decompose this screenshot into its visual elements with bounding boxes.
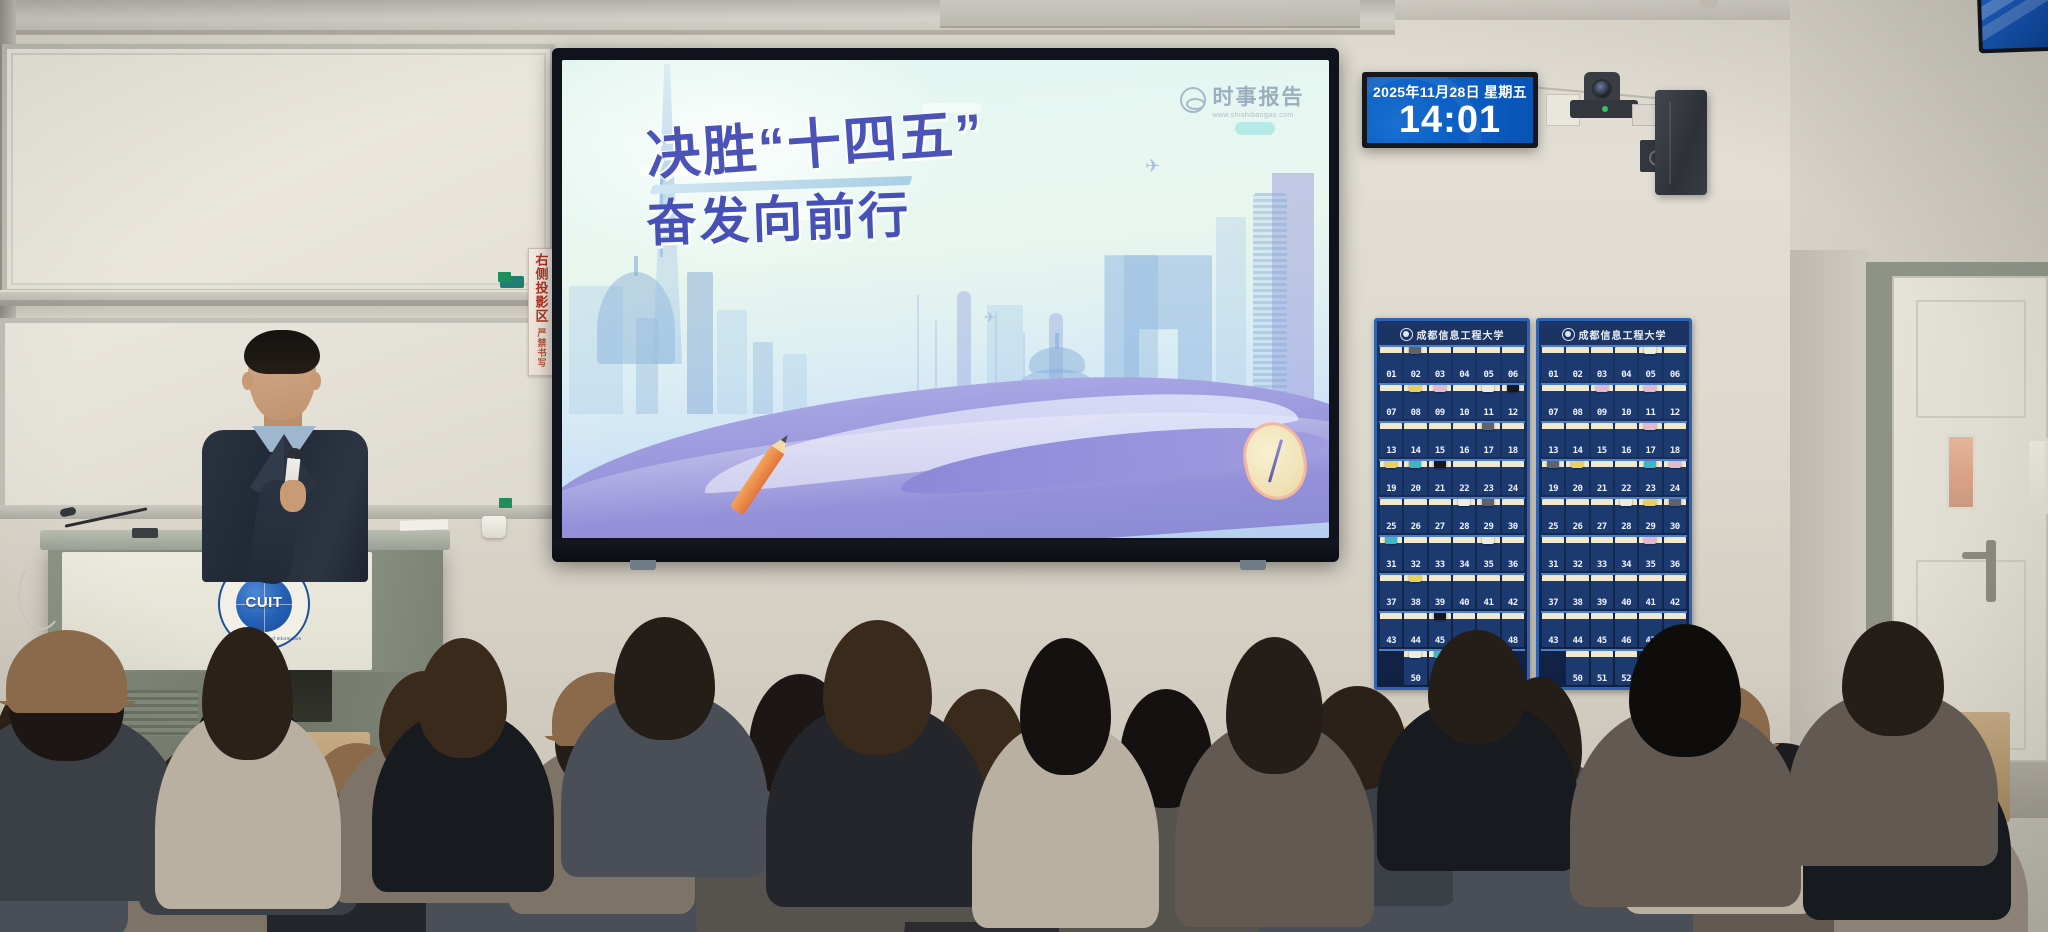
phone-board-title: 成都信息工程大学 bbox=[1417, 327, 1505, 342]
phone-slot-04[interactable]: 04 bbox=[1615, 347, 1637, 381]
camera-status-led bbox=[1602, 106, 1608, 112]
phone-slot-16[interactable]: 16 bbox=[1453, 423, 1475, 457]
phone-slot-22[interactable]: 22 bbox=[1615, 461, 1637, 495]
projection-area-warning-sign: 右侧投影区 严禁书写 bbox=[528, 248, 554, 376]
presenter-hand bbox=[280, 480, 306, 512]
phone-slot-11[interactable]: 11 bbox=[1477, 385, 1499, 419]
phone-slot-number: 29 bbox=[1484, 522, 1494, 532]
phone-slot-number: 26 bbox=[1573, 522, 1583, 532]
phone-slot-24[interactable]: 24 bbox=[1664, 461, 1686, 495]
phone-slot-number: 08 bbox=[1573, 408, 1583, 418]
phone-slot-number: 17 bbox=[1646, 446, 1656, 456]
phone-slot-number: 06 bbox=[1670, 370, 1680, 380]
phone-slot-12[interactable]: 12 bbox=[1664, 385, 1686, 419]
phone-slot-29[interactable]: 29 bbox=[1639, 499, 1661, 533]
phone-slot-number: 16 bbox=[1621, 446, 1631, 456]
stored-phone bbox=[1409, 347, 1421, 354]
phone-slot-number: 21 bbox=[1597, 484, 1607, 494]
phone-board-title: 成都信息工程大学 bbox=[1579, 327, 1667, 342]
building-left-4 bbox=[717, 310, 747, 414]
phone-slot-number: 12 bbox=[1670, 408, 1680, 418]
stored-phone bbox=[1620, 499, 1632, 506]
phone-slot-05[interactable]: 05 bbox=[1477, 347, 1499, 381]
phone-slot-number: 24 bbox=[1670, 484, 1680, 494]
phone-slot-number: 27 bbox=[1435, 522, 1445, 532]
whiteboard-upper bbox=[2, 44, 555, 294]
phone-slot-number: 14 bbox=[1573, 446, 1583, 456]
phone-slot-27[interactable]: 27 bbox=[1429, 499, 1451, 533]
stored-phone bbox=[1434, 385, 1446, 392]
compass-clock-icon bbox=[1244, 422, 1306, 500]
stored-phone bbox=[1385, 461, 1397, 468]
phone-slot-number: 26 bbox=[1411, 522, 1421, 532]
stored-phone bbox=[1644, 423, 1656, 430]
ceiling-panel-right bbox=[1395, 0, 1815, 20]
cup-on-ledge bbox=[482, 516, 506, 538]
presentation-display[interactable]: ✈ ✈ bbox=[552, 48, 1339, 560]
phone-slot-number: 15 bbox=[1435, 446, 1445, 456]
phone-slot-number: 19 bbox=[1386, 484, 1396, 494]
audience-member-head bbox=[1842, 621, 1944, 737]
phone-slot-number: 03 bbox=[1435, 370, 1445, 380]
door-vision-panel bbox=[1946, 434, 1976, 510]
phone-slot-30[interactable]: 30 bbox=[1502, 499, 1524, 533]
phone-slot-03[interactable]: 03 bbox=[1429, 347, 1451, 381]
camera-lens-icon bbox=[1592, 79, 1612, 99]
phone-slot-number: 28 bbox=[1621, 522, 1631, 532]
phone-slot-number: 02 bbox=[1573, 370, 1583, 380]
phone-slot-07[interactable]: 07 bbox=[1380, 385, 1402, 419]
phone-slot-15[interactable]: 15 bbox=[1591, 423, 1613, 457]
audience-member-head bbox=[823, 620, 932, 755]
phone-slot-number: 22 bbox=[1621, 484, 1631, 494]
phone-slot-number: 05 bbox=[1646, 370, 1656, 380]
phone-slot-11[interactable]: 11 bbox=[1639, 385, 1661, 419]
phone-slot-number: 23 bbox=[1646, 484, 1656, 494]
phone-slot-10[interactable]: 10 bbox=[1453, 385, 1475, 419]
phone-slot-number: 22 bbox=[1459, 484, 1469, 494]
phone-slot-01[interactable]: 01 bbox=[1380, 347, 1402, 381]
phone-slot-20[interactable]: 20 bbox=[1404, 461, 1426, 495]
audience-member-head bbox=[1020, 638, 1111, 775]
stored-phone bbox=[1547, 461, 1559, 468]
phone-slot-18[interactable]: 18 bbox=[1664, 423, 1686, 457]
phone-slot-number: 18 bbox=[1508, 446, 1518, 456]
paper-sheet bbox=[400, 519, 448, 531]
phone-slot-number: 10 bbox=[1459, 408, 1469, 418]
green-wall-tag-lower bbox=[499, 498, 512, 508]
phone-board-seal-icon bbox=[1562, 328, 1575, 341]
phone-slot-number: 11 bbox=[1646, 408, 1656, 418]
stored-phone bbox=[1458, 499, 1470, 506]
phone-board-header: 成都信息工程大学 bbox=[1379, 323, 1525, 345]
phone-slot-number: 01 bbox=[1386, 370, 1396, 380]
phone-slot-26[interactable]: 26 bbox=[1404, 499, 1426, 533]
building-left-5 bbox=[753, 342, 773, 414]
phone-slot-number: 21 bbox=[1435, 484, 1445, 494]
phone-slot-number: 25 bbox=[1548, 522, 1558, 532]
phone-slot-number: 23 bbox=[1484, 484, 1494, 494]
phone-slot-01[interactable]: 01 bbox=[1542, 347, 1564, 381]
phone-slot-21[interactable]: 21 bbox=[1591, 461, 1613, 495]
stored-phone bbox=[1507, 385, 1519, 392]
phone-slot-number: 02 bbox=[1411, 370, 1421, 380]
phone-slot-03[interactable]: 03 bbox=[1591, 347, 1613, 381]
phone-slot-27[interactable]: 27 bbox=[1591, 499, 1613, 533]
phone-slot-number: 15 bbox=[1597, 446, 1607, 456]
phone-slot-09[interactable]: 09 bbox=[1591, 385, 1613, 419]
phone-slot-20[interactable]: 20 bbox=[1566, 461, 1588, 495]
phone-slot-26[interactable]: 26 bbox=[1566, 499, 1588, 533]
phone-slot-02[interactable]: 02 bbox=[1566, 347, 1588, 381]
phone-slot-number: 18 bbox=[1670, 446, 1680, 456]
ptz-camera bbox=[1570, 72, 1638, 130]
phone-slot-25[interactable]: 25 bbox=[1380, 499, 1402, 533]
slide-headline-block: 决胜“十四五” 奋发向前行 bbox=[646, 113, 1122, 241]
phone-slot-10[interactable]: 10 bbox=[1615, 385, 1637, 419]
whiteboard-surface bbox=[11, 53, 546, 285]
phone-slot-09[interactable]: 09 bbox=[1429, 385, 1451, 419]
wall-digital-clock: 2025年11月28日 星期五 14:01 bbox=[1362, 72, 1538, 148]
phone-slot-number: 20 bbox=[1411, 484, 1421, 494]
ceiling-panel-left bbox=[940, 0, 1360, 28]
corner-monitor[interactable] bbox=[1977, 0, 2048, 53]
phone-slot-number: 20 bbox=[1573, 484, 1583, 494]
door-side-panel bbox=[2026, 438, 2048, 514]
gooseneck-capsule bbox=[59, 506, 76, 517]
audience-member-head bbox=[1226, 637, 1323, 774]
publisher-logo-mark-icon bbox=[1180, 87, 1206, 113]
building-left-3 bbox=[687, 272, 713, 414]
lecture-hall-photo: 右侧投影区 严禁书写 ✈ ✈ bbox=[0, 0, 2048, 932]
phone-slot-16[interactable]: 16 bbox=[1615, 423, 1637, 457]
phone-slot-number: 28 bbox=[1459, 522, 1469, 532]
audience-member-head bbox=[418, 638, 507, 758]
wall-speaker bbox=[1655, 90, 1707, 195]
phone-slot-12[interactable]: 12 bbox=[1502, 385, 1524, 419]
phone-slot-08[interactable]: 08 bbox=[1404, 385, 1426, 419]
audience-member-head bbox=[202, 627, 293, 760]
phone-slot-number: 09 bbox=[1597, 408, 1607, 418]
phone-slot-29[interactable]: 29 bbox=[1477, 499, 1499, 533]
slide-publisher-logo: 时事报告 www.shishibaogao.com bbox=[1180, 81, 1304, 119]
phone-slot-04[interactable]: 04 bbox=[1453, 347, 1475, 381]
stored-phone bbox=[1482, 385, 1494, 392]
phone-slot-14[interactable]: 14 bbox=[1404, 423, 1426, 457]
warning-sign-main: 右侧投影区 bbox=[535, 253, 548, 323]
phone-board-row: 192021222324 bbox=[1541, 459, 1687, 497]
clock-time: 14:01 bbox=[1399, 101, 1501, 139]
audience-member-head bbox=[1428, 630, 1526, 744]
bridge-cable-1 bbox=[917, 295, 919, 395]
phone-slot-number: 01 bbox=[1548, 370, 1558, 380]
publisher-name: 时事报告 bbox=[1212, 81, 1304, 111]
phone-slot-18[interactable]: 18 bbox=[1502, 423, 1524, 457]
phone-slot-06[interactable]: 06 bbox=[1664, 347, 1686, 381]
temple-tier-3 bbox=[1029, 347, 1085, 373]
phone-slot-22[interactable]: 22 bbox=[1453, 461, 1475, 495]
phone-slot-number: 25 bbox=[1386, 522, 1396, 532]
publisher-url: www.shishibaogao.com bbox=[1212, 112, 1304, 119]
stored-phone bbox=[1482, 499, 1494, 506]
slide-canvas: ✈ ✈ bbox=[562, 60, 1329, 538]
phone-slot-number: 09 bbox=[1435, 408, 1445, 418]
stored-phone bbox=[1409, 385, 1421, 392]
building-left-6 bbox=[783, 354, 807, 414]
phone-slot-13[interactable]: 13 bbox=[1380, 423, 1402, 457]
warning-sign-sub: 严禁书写 bbox=[537, 328, 546, 368]
phone-slot-number: 04 bbox=[1459, 370, 1469, 380]
phone-slot-number: 30 bbox=[1508, 522, 1518, 532]
door-panel-top bbox=[1916, 300, 2026, 418]
phone-board-row: 252627282930 bbox=[1541, 497, 1687, 535]
audience-member-head bbox=[614, 617, 715, 739]
phone-slot-17[interactable]: 17 bbox=[1477, 423, 1499, 457]
phone-slot-number: 04 bbox=[1621, 370, 1631, 380]
compass-dial bbox=[1237, 416, 1314, 505]
ceiling-seam bbox=[0, 30, 1395, 35]
phone-board-row: 131415161718 bbox=[1379, 421, 1525, 459]
phone-board-row: 070809101112 bbox=[1379, 383, 1525, 421]
phone-board-row: 252627282930 bbox=[1379, 497, 1525, 535]
gooseneck-arm bbox=[65, 507, 148, 527]
presenter-ear-left bbox=[242, 372, 253, 390]
phone-slot-28[interactable]: 28 bbox=[1453, 499, 1475, 533]
stored-phone bbox=[1409, 461, 1421, 468]
stored-phone bbox=[1669, 499, 1681, 506]
green-wall-tag-upper bbox=[498, 272, 511, 282]
phone-slot-number: 30 bbox=[1670, 522, 1680, 532]
cloud-3 bbox=[1235, 122, 1275, 135]
phone-slot-number: 07 bbox=[1386, 408, 1396, 418]
phone-slot-number: 03 bbox=[1597, 370, 1607, 380]
phone-slot-23[interactable]: 23 bbox=[1477, 461, 1499, 495]
phone-board-header: 成都信息工程大学 bbox=[1541, 323, 1687, 345]
phone-board-row: 070809101112 bbox=[1541, 383, 1687, 421]
phone-slot-number: 08 bbox=[1411, 408, 1421, 418]
slide-headline-line-2: 奋发向前行 bbox=[646, 182, 1123, 249]
phone-slot-14[interactable]: 14 bbox=[1566, 423, 1588, 457]
phone-slot-19[interactable]: 19 bbox=[1380, 461, 1402, 495]
presenter-hair bbox=[244, 330, 320, 374]
stored-phone bbox=[1596, 385, 1608, 392]
stored-phone bbox=[1644, 385, 1656, 392]
phone-slot-25[interactable]: 25 bbox=[1542, 499, 1564, 533]
phone-slot-08[interactable]: 08 bbox=[1566, 385, 1588, 419]
phone-slot-number: 10 bbox=[1621, 408, 1631, 418]
phone-slot-17[interactable]: 17 bbox=[1639, 423, 1661, 457]
stored-phone bbox=[1644, 347, 1656, 354]
stored-phone bbox=[1644, 499, 1656, 506]
phone-slot-number: 27 bbox=[1597, 522, 1607, 532]
phone-board-row: 010203040506 bbox=[1541, 345, 1687, 383]
stored-phone bbox=[1482, 423, 1494, 430]
microphone-base bbox=[132, 528, 158, 538]
corner-monitor-screen bbox=[1981, 0, 2048, 49]
phone-board-row: 192021222324 bbox=[1379, 459, 1525, 497]
phone-slot-number: 07 bbox=[1548, 408, 1558, 418]
phone-slot-05[interactable]: 05 bbox=[1639, 347, 1661, 381]
phone-slot-number: 29 bbox=[1646, 522, 1656, 532]
phone-slot-06[interactable]: 06 bbox=[1502, 347, 1524, 381]
seal-abbreviation: CUIT bbox=[218, 594, 310, 611]
phone-slot-number: 14 bbox=[1411, 446, 1421, 456]
phone-board-row: 010203040506 bbox=[1379, 345, 1525, 383]
phone-slot-number: 17 bbox=[1484, 446, 1494, 456]
phone-slot-24[interactable]: 24 bbox=[1502, 461, 1524, 495]
stored-phone bbox=[1669, 461, 1681, 468]
phone-slot-number: 24 bbox=[1508, 484, 1518, 494]
phone-board-seal-icon bbox=[1400, 328, 1413, 341]
stored-phone bbox=[1644, 461, 1656, 468]
phone-slot-23[interactable]: 23 bbox=[1639, 461, 1661, 495]
publisher-logo-text: 时事报告 www.shishibaogao.com bbox=[1212, 81, 1304, 119]
phone-slot-number: 16 bbox=[1459, 446, 1469, 456]
phone-slot-19[interactable]: 19 bbox=[1542, 461, 1564, 495]
phone-slot-21[interactable]: 21 bbox=[1429, 461, 1451, 495]
presenter-ear-right bbox=[310, 372, 321, 390]
compass-needle bbox=[1267, 439, 1282, 482]
phone-slot-number: 13 bbox=[1548, 446, 1558, 456]
phone-board-row: 131415161718 bbox=[1541, 421, 1687, 459]
phone-slot-02[interactable]: 02 bbox=[1404, 347, 1426, 381]
phone-slot-07[interactable]: 07 bbox=[1542, 385, 1564, 419]
bridge-cable-2 bbox=[935, 321, 937, 395]
phone-slot-number: 06 bbox=[1508, 370, 1518, 380]
phone-slot-15[interactable]: 15 bbox=[1429, 423, 1451, 457]
phone-slot-28[interactable]: 28 bbox=[1615, 499, 1637, 533]
phone-slot-number: 19 bbox=[1548, 484, 1558, 494]
audience-member-head bbox=[1629, 624, 1742, 757]
phone-slot-number: 05 bbox=[1484, 370, 1494, 380]
stored-phone bbox=[1571, 461, 1583, 468]
clock-screen: 2025年11月28日 星期五 14:01 bbox=[1367, 77, 1533, 143]
phone-slot-30[interactable]: 30 bbox=[1664, 499, 1686, 533]
phone-slot-number: 12 bbox=[1508, 408, 1518, 418]
stored-phone bbox=[1434, 461, 1446, 468]
phone-slot-number: 11 bbox=[1484, 408, 1494, 418]
phone-slot-13[interactable]: 13 bbox=[1542, 423, 1564, 457]
phone-slot-number: 13 bbox=[1386, 446, 1396, 456]
